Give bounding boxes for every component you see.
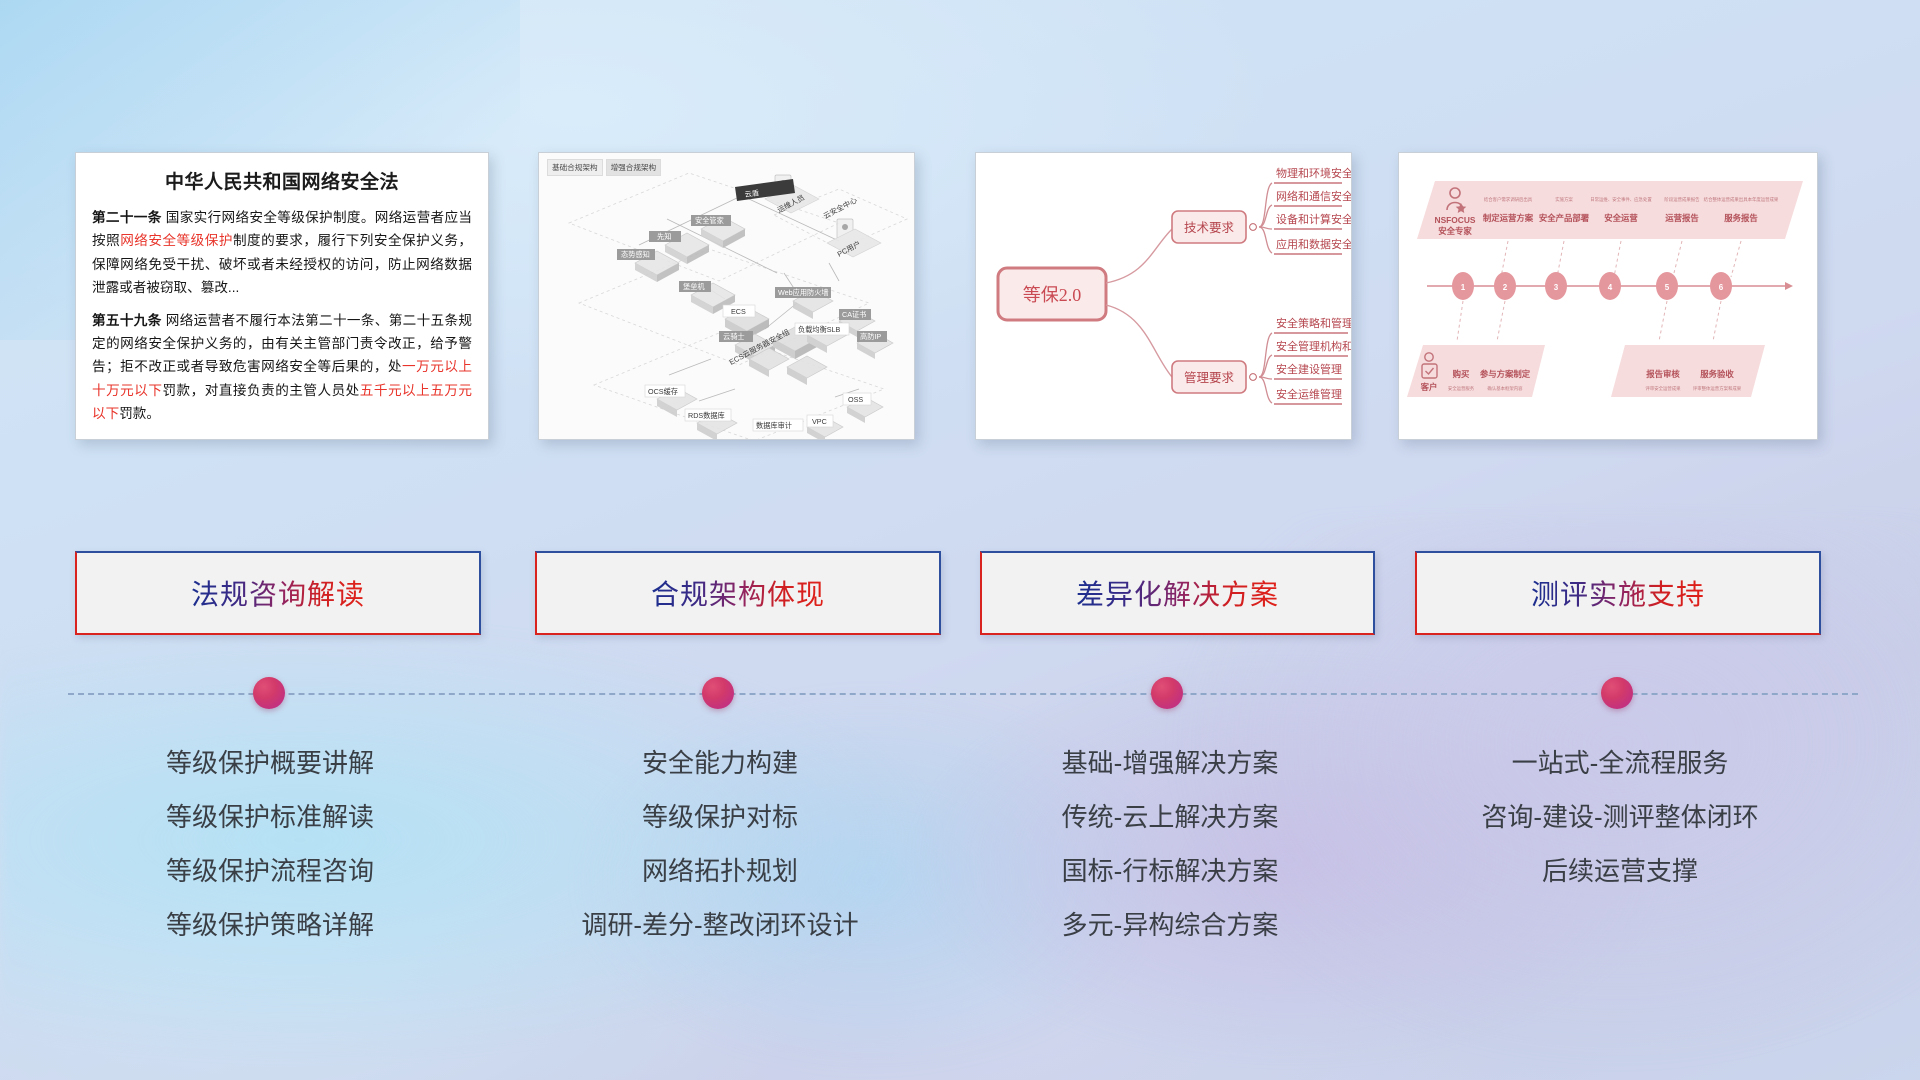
bullet-column-compliance-architecture: 安全能力构建 等级保护对标 网络拓扑规划 调研-差分-整改闭环设计 (510, 750, 930, 966)
section-header-differentiated-solution[interactable]: 差异化解决方案 (980, 551, 1375, 635)
list-item: 等级保护流程咨询 (60, 858, 480, 884)
section-header-label: 合规架构体现 (651, 573, 825, 613)
section-header-compliance-architecture[interactable]: 合规架构体现 (535, 551, 941, 635)
bullet-columns: 等级保护概要讲解 等级保护标准解读 等级保护流程咨询 等级保护策略详解 安全能力… (0, 730, 1920, 1080)
section-header-label: 法规咨询解读 (191, 573, 365, 613)
list-item: 安全能力构建 (510, 750, 930, 776)
section-header-label: 差异化解决方案 (1076, 573, 1279, 613)
timeline-dashed-line (68, 693, 1858, 695)
list-item: 等级保护策略详解 (60, 912, 480, 938)
bullet-column-differentiated-solution: 基础-增强解决方案 传统-云上解决方案 国标-行标解决方案 多元-异构综合方案 (960, 750, 1380, 966)
list-item: 等级保护概要讲解 (60, 750, 480, 776)
list-item: 多元-异构综合方案 (960, 912, 1380, 938)
list-item: 等级保护对标 (510, 804, 930, 830)
list-item: 基础-增强解决方案 (960, 750, 1380, 776)
list-item: 网络拓扑规划 (510, 858, 930, 884)
list-item: 一站式-全流程服务 (1410, 750, 1830, 776)
list-item: 传统-云上解决方案 (960, 804, 1380, 830)
section-header-regulation-consulting[interactable]: 法规咨询解读 (75, 551, 481, 635)
bullet-column-assessment-support: 一站式-全流程服务 咨询-建设-测评整体闭环 后续运营支撑 (1410, 750, 1830, 912)
timeline-dot-3 (1151, 677, 1183, 709)
timeline-dot-2 (702, 677, 734, 709)
timeline-dot-4 (1601, 677, 1633, 709)
section-header-assessment-support[interactable]: 测评实施支持 (1415, 551, 1821, 635)
list-item: 后续运营支撑 (1410, 858, 1830, 884)
list-item: 调研-差分-整改闭环设计 (510, 912, 930, 938)
timeline-dot-1 (253, 677, 285, 709)
list-item: 咨询-建设-测评整体闭环 (1410, 804, 1830, 830)
list-item: 等级保护标准解读 (60, 804, 480, 830)
bullet-column-regulation-consulting: 等级保护概要讲解 等级保护标准解读 等级保护流程咨询 等级保护策略详解 (60, 750, 480, 966)
list-item: 国标-行标解决方案 (960, 858, 1380, 884)
section-header-label: 测评实施支持 (1531, 573, 1705, 613)
